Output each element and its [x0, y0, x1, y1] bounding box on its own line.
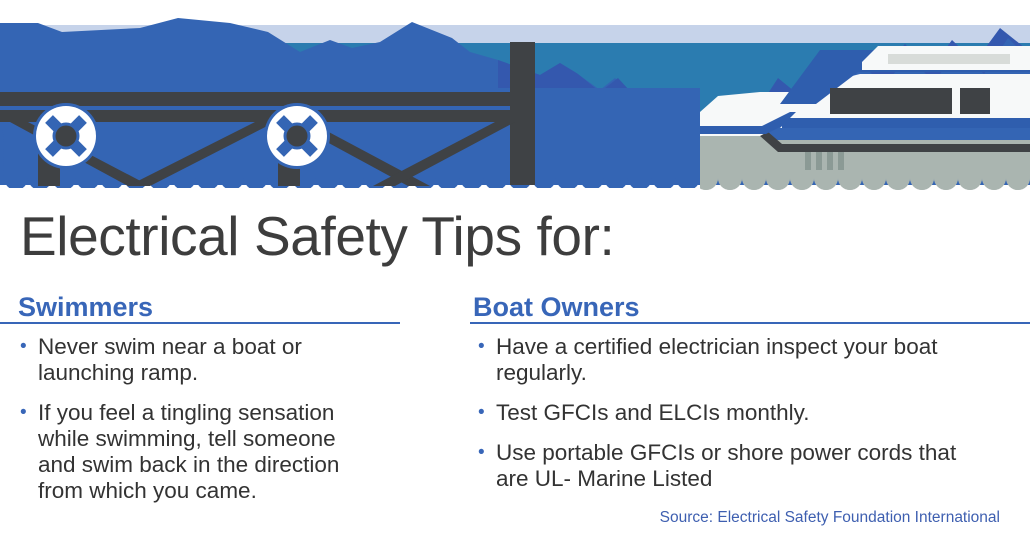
life-ring-icon [264, 103, 330, 169]
bullet-dot: • [478, 440, 496, 492]
column-rule-boat-owners [470, 322, 1030, 324]
bullet-list-swimmers: • Never swim near a boat or launching ra… [20, 334, 440, 518]
column-heading-boat-owners: Boat Owners [473, 294, 640, 321]
bullet-dot: • [478, 334, 496, 386]
bullet-dot: • [478, 400, 496, 426]
header-illustration [0, 0, 1030, 200]
list-item-text: Have a certified electrician inspect you… [496, 334, 937, 386]
life-ring-hole [287, 126, 308, 147]
yacht-window-square [960, 88, 990, 114]
slide-canvas: Electrical Safety Tips for: Swimmers • N… [0, 0, 1030, 557]
column-rule-swimmers [0, 322, 400, 324]
page-title: Electrical Safety Tips for: [20, 209, 614, 264]
yacht-window-band [830, 88, 952, 114]
column-heading-swimmers: Swimmers [18, 294, 153, 321]
life-ring-icon [33, 103, 99, 169]
list-item: • Never swim near a boat or launching ra… [20, 334, 440, 386]
life-ring-hole [56, 126, 77, 147]
list-item-text: Test GFCIs and ELCIs monthly. [496, 400, 809, 426]
list-item-text: If you feel a tingling sensation while s… [38, 400, 339, 504]
list-item: • Have a certified electrician inspect y… [478, 334, 1023, 386]
bullet-list-boat-owners: • Have a certified electrician inspect y… [478, 334, 1023, 506]
list-item: • Test GFCIs and ELCIs monthly. [478, 400, 1023, 426]
list-item: • Use portable GFCIs or shore power cord… [478, 440, 1023, 492]
dock-deck-beam [0, 92, 530, 106]
list-item-text: Use portable GFCIs or shore power cords … [496, 440, 956, 492]
list-item-text: Never swim near a boat or launching ramp… [38, 334, 302, 386]
list-item: • If you feel a tingling sensation while… [20, 400, 440, 504]
source-credit: Source: Electrical Safety Foundation Int… [660, 509, 1000, 527]
bullet-dot: • [20, 334, 38, 386]
bullet-dot: • [20, 400, 38, 504]
yacht-upper-window-strip [888, 54, 1010, 64]
yacht-blue-belt [782, 118, 1030, 128]
